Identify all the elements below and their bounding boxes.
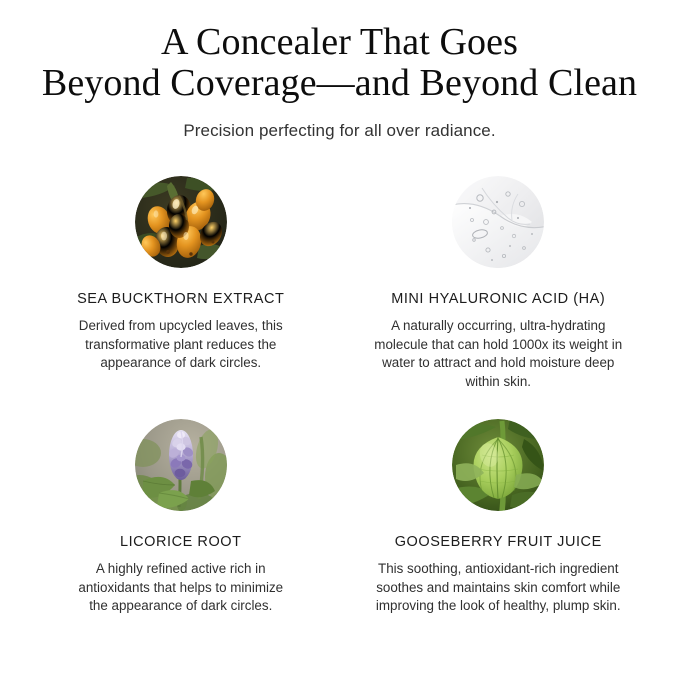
gooseberry-fruit-photo-icon: [452, 419, 544, 511]
ingredient-card-sea-buckthorn-extract: SEA BUCKTHORN EXTRACT Derived from upcyc…: [22, 176, 340, 391]
ingredient-name: LICORICE ROOT: [120, 511, 242, 551]
ingredient-description: This soothing, antioxidant-rich ingredie…: [371, 551, 625, 616]
ingredient-description: A naturally occurring, ultra-hydrating m…: [371, 308, 625, 391]
ingredient-grid: SEA BUCKTHORN EXTRACT Derived from upcyc…: [0, 176, 679, 616]
ingredient-card-mini-hyaluronic-acid: MINI HYALURONIC ACID (HA) A naturally oc…: [340, 176, 658, 391]
ingredient-name: MINI HYALURONIC ACID (HA): [391, 268, 605, 308]
page-subtitle: Precision perfecting for all over radian…: [0, 104, 679, 142]
page-header: A Concealer That Goes Beyond Coverage—an…: [0, 0, 679, 142]
ingredient-name: GOOSEBERRY FRUIT JUICE: [395, 511, 602, 551]
ingredient-description: Derived from upcycled leaves, this trans…: [68, 308, 294, 373]
ingredient-card-licorice-root: LICORICE ROOT A highly refined active ri…: [22, 419, 340, 616]
hyaluronic-acid-gel-texture-photo-icon: [452, 176, 544, 268]
page-title-line-2: Beyond Coverage—and Beyond Clean: [22, 63, 657, 104]
page-title-line-1: A Concealer That Goes: [22, 22, 657, 63]
ingredient-card-gooseberry-fruit-juice: GOOSEBERRY FRUIT JUICE This soothing, an…: [340, 419, 658, 616]
licorice-root-flower-photo-icon: [135, 419, 227, 511]
ingredient-description: A highly refined active rich in antioxid…: [68, 551, 294, 616]
ingredient-benefits-page: A Concealer That Goes Beyond Coverage—an…: [0, 0, 679, 679]
sea-buckthorn-berries-photo-icon: [135, 176, 227, 268]
ingredient-name: SEA BUCKTHORN EXTRACT: [77, 268, 284, 308]
page-title: A Concealer That Goes Beyond Coverage—an…: [0, 22, 679, 104]
